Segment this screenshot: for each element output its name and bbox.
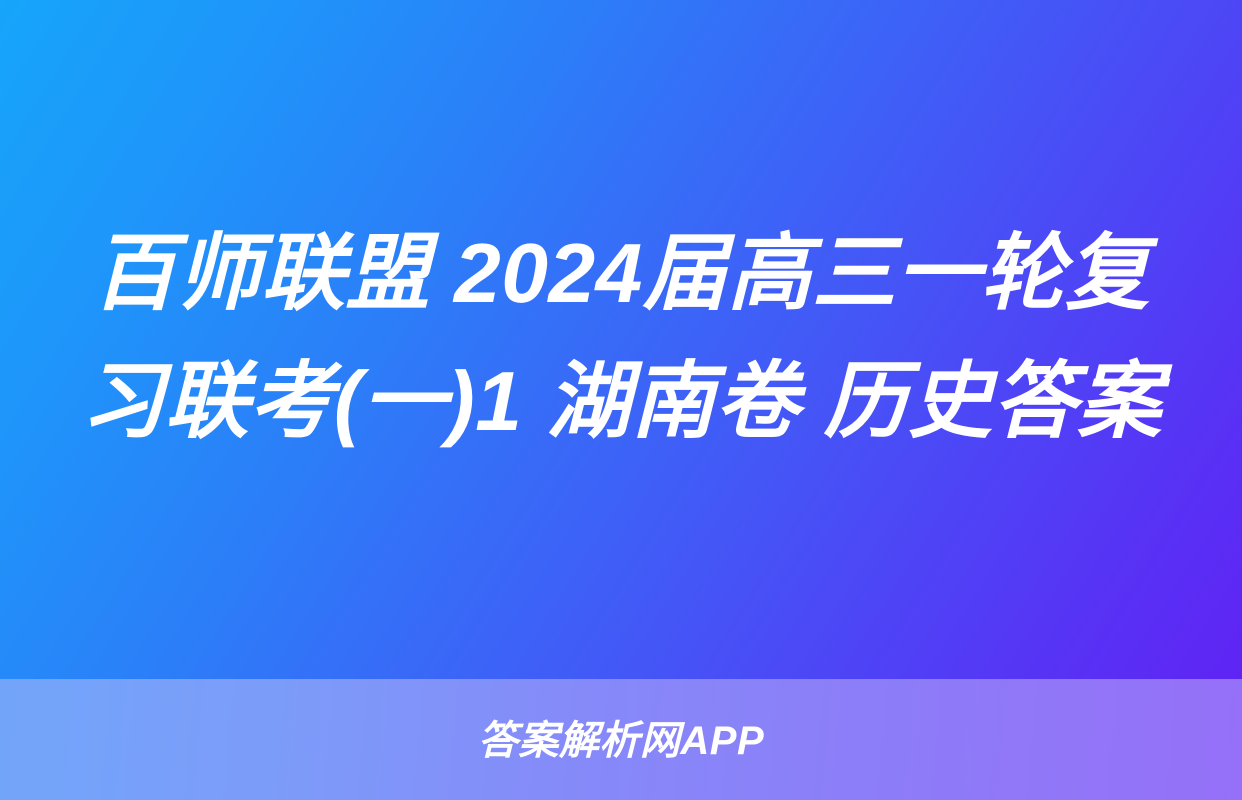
brand-app-label: 答案解析网APP [478,721,764,761]
page-title: 百师联盟 2024届高三一轮复习联考(一)1 湖南卷 历史答案 [58,210,1184,465]
hero-banner: 百师联盟 2024届高三一轮复习联考(一)1 湖南卷 历史答案 [0,0,1242,679]
brand-footer-band: 答案解析网APP [0,679,1242,800]
answer-cover-card: 百师联盟 2024届高三一轮复习联考(一)1 湖南卷 历史答案 答案解析网APP [0,0,1242,800]
